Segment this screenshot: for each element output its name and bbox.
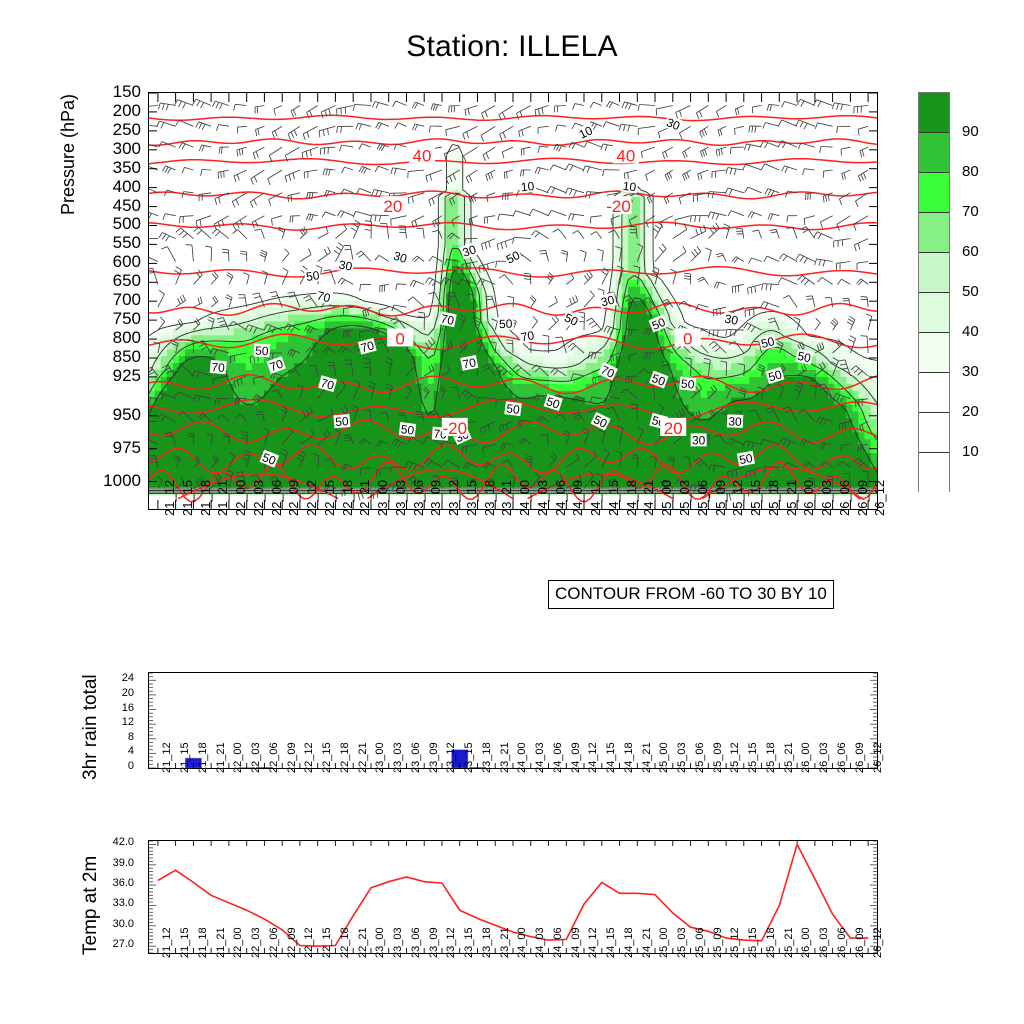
x-tick-25_21: 25_21 bbox=[783, 927, 795, 958]
x-tick-22_18: 22_18 bbox=[339, 927, 351, 958]
x-tick-23_12: 23_12 bbox=[445, 742, 457, 773]
pressure-tick-975: 975 bbox=[95, 439, 141, 456]
x-tick-25_12: 25_12 bbox=[729, 927, 741, 958]
x-tick-26_09: 26_09 bbox=[855, 480, 870, 516]
x-tick-24_18: 24_18 bbox=[623, 927, 635, 958]
x-tick-26_06: 26_06 bbox=[836, 927, 848, 958]
x-tick-26_12: 26_12 bbox=[872, 480, 887, 516]
x-tick-24_15: 24_15 bbox=[605, 742, 617, 773]
x-tick-23_03: 23_03 bbox=[392, 742, 404, 773]
x-tick-26_03: 26_03 bbox=[819, 480, 834, 516]
colorbar-cell-7 bbox=[919, 373, 949, 413]
colorbar-label-20: 20 bbox=[962, 403, 979, 420]
x-tick-24_03: 24_03 bbox=[534, 742, 546, 773]
rain-tick-4: 4 bbox=[108, 746, 134, 757]
pressure-tick-750: 750 bbox=[95, 310, 141, 327]
x-tick-22_09: 22_09 bbox=[286, 927, 298, 958]
x-tick-25_12: 25_12 bbox=[729, 742, 741, 773]
x-tick-21_12: 21_12 bbox=[161, 927, 173, 958]
colorbar-label-70: 70 bbox=[962, 203, 979, 220]
x-tick-25_09: 25_09 bbox=[713, 480, 728, 516]
x-tick-21_21: 21_21 bbox=[215, 742, 227, 773]
colorbar-cell-8 bbox=[919, 413, 949, 453]
x-tick-23_06: 23_06 bbox=[410, 927, 422, 958]
x-tick-21_18: 21_18 bbox=[198, 480, 213, 516]
x-tick-25_09: 25_09 bbox=[712, 742, 724, 773]
x-tick-25_03: 25_03 bbox=[677, 480, 692, 516]
rain-tick-12: 12 bbox=[108, 717, 134, 728]
colorbar-cell-2 bbox=[919, 173, 949, 213]
x-tick-22_21: 22_21 bbox=[357, 742, 369, 773]
x-tick-26_09: 26_09 bbox=[854, 927, 866, 958]
x-tick-21_15: 21_15 bbox=[179, 742, 191, 773]
x-tick-23_21: 23_21 bbox=[499, 742, 511, 773]
x-tick-24_09: 24_09 bbox=[570, 480, 585, 516]
x-tick-24_00: 24_00 bbox=[517, 480, 532, 516]
x-tick-21_21: 21_21 bbox=[215, 927, 227, 958]
x-tick-22_00: 22_00 bbox=[232, 742, 244, 773]
x-tick-23_06: 23_06 bbox=[410, 742, 422, 773]
x-tick-25_12: 25_12 bbox=[730, 480, 745, 516]
x-tick-25_15: 25_15 bbox=[747, 742, 759, 773]
x-tick-22_03: 22_03 bbox=[251, 480, 266, 516]
x-tick-22_03: 22_03 bbox=[250, 742, 262, 773]
colorbar bbox=[918, 92, 950, 492]
x-tick-24_21: 24_21 bbox=[641, 927, 653, 958]
x-tick-25_09: 25_09 bbox=[712, 927, 724, 958]
x-tick-23_12: 23_12 bbox=[446, 480, 461, 516]
x-tick-23_09: 23_09 bbox=[428, 480, 443, 516]
x-tick-21_12: 21_12 bbox=[162, 480, 177, 516]
x-tick-24_03: 24_03 bbox=[534, 927, 546, 958]
x-tick-24_15: 24_15 bbox=[605, 927, 617, 958]
x-tick-22_09: 22_09 bbox=[286, 742, 298, 773]
x-tick-22_18: 22_18 bbox=[339, 742, 351, 773]
x-tick-24_03: 24_03 bbox=[535, 480, 550, 516]
x-tick-21_21: 21_21 bbox=[215, 480, 230, 516]
pressure-tick-950: 950 bbox=[95, 406, 141, 423]
pressure-tick-1000: 1000 bbox=[95, 472, 141, 489]
x-tick-26_09: 26_09 bbox=[854, 742, 866, 773]
x-tick-23_15: 23_15 bbox=[463, 927, 475, 958]
pressure-tick-600: 600 bbox=[95, 253, 141, 270]
rain-tick-8: 8 bbox=[108, 732, 134, 743]
temp-tick-36.0: 36.0 bbox=[100, 878, 134, 889]
colorbar-label-50: 50 bbox=[962, 283, 979, 300]
pressure-tick-700: 700 bbox=[95, 291, 141, 308]
x-tick-25_00: 25_00 bbox=[658, 927, 670, 958]
pressure-tick-800: 800 bbox=[95, 329, 141, 346]
x-tick-22_00: 22_00 bbox=[233, 480, 248, 516]
x-tick-22_12: 22_12 bbox=[303, 927, 315, 958]
x-tick-25_00: 25_00 bbox=[659, 480, 674, 516]
x-tick-26_12: 26_12 bbox=[872, 927, 884, 958]
x-tick-25_18: 25_18 bbox=[765, 742, 777, 773]
contour-caption: CONTOUR FROM -60 TO 30 BY 10 bbox=[548, 580, 834, 609]
x-tick-24_12: 24_12 bbox=[588, 480, 603, 516]
x-tick-23_00: 23_00 bbox=[374, 927, 386, 958]
x-tick-23_18: 23_18 bbox=[481, 927, 493, 958]
x-tick-22_15: 22_15 bbox=[321, 927, 333, 958]
pressure-tick-500: 500 bbox=[95, 215, 141, 232]
x-tick-25_21: 25_21 bbox=[784, 480, 799, 516]
x-tick-25_15: 25_15 bbox=[747, 927, 759, 958]
x-tick-25_06: 25_06 bbox=[694, 742, 706, 773]
x-tick-22_06: 22_06 bbox=[269, 480, 284, 516]
temp-tick-33.0: 33.0 bbox=[100, 898, 134, 909]
x-tick-25_06: 25_06 bbox=[694, 927, 706, 958]
rain-tick-16: 16 bbox=[108, 703, 134, 714]
x-tick-23_09: 23_09 bbox=[428, 742, 440, 773]
x-tick-22_12: 22_12 bbox=[304, 480, 319, 516]
x-tick-21_12: 21_12 bbox=[161, 742, 173, 773]
x-tick-21_15: 21_15 bbox=[180, 480, 195, 516]
x-tick-21_15: 21_15 bbox=[179, 927, 191, 958]
x-tick-22_06: 22_06 bbox=[268, 927, 280, 958]
x-tick-23_00: 23_00 bbox=[375, 480, 390, 516]
temp-tick-27.0: 27.0 bbox=[100, 939, 134, 950]
x-tick-25_06: 25_06 bbox=[695, 480, 710, 516]
colorbar-label-40: 40 bbox=[962, 323, 979, 340]
colorbar-cell-5 bbox=[919, 293, 949, 333]
x-tick-25_03: 25_03 bbox=[676, 927, 688, 958]
pressure-tick-925: 925 bbox=[95, 367, 141, 384]
x-tick-24_21: 24_21 bbox=[641, 742, 653, 773]
x-tick-24_06: 24_06 bbox=[553, 480, 568, 516]
pressure-tick-550: 550 bbox=[95, 234, 141, 251]
x-tick-26_12: 26_12 bbox=[872, 742, 884, 773]
x-tick-24_00: 24_00 bbox=[516, 742, 528, 773]
x-tick-23_21: 23_21 bbox=[499, 927, 511, 958]
temp-tick-39.0: 39.0 bbox=[100, 858, 134, 869]
x-tick-25_18: 25_18 bbox=[766, 480, 781, 516]
colorbar-label-30: 30 bbox=[962, 363, 979, 380]
colorbar-cell-6 bbox=[919, 333, 949, 373]
rain-tick-24: 24 bbox=[108, 673, 134, 684]
x-tick-21_18: 21_18 bbox=[197, 927, 209, 958]
x-tick-23_06: 23_06 bbox=[411, 480, 426, 516]
x-tick-26_06: 26_06 bbox=[836, 742, 848, 773]
x-tick-23_00: 23_00 bbox=[374, 742, 386, 773]
main-y-axis-title: Pressure (hPa) bbox=[58, 94, 79, 215]
x-tick-24_21: 24_21 bbox=[641, 480, 656, 516]
colorbar-cell-0 bbox=[919, 93, 949, 133]
colorbar-label-80: 80 bbox=[962, 163, 979, 180]
temp-tick-42.0: 42.0 bbox=[100, 837, 134, 848]
x-tick-24_09: 24_09 bbox=[570, 927, 582, 958]
x-tick-22_21: 22_21 bbox=[357, 480, 372, 516]
x-tick-26_00: 26_00 bbox=[801, 480, 816, 516]
x-tick-25_18: 25_18 bbox=[765, 927, 777, 958]
x-tick-26_06: 26_06 bbox=[837, 480, 852, 516]
x-tick-22_15: 22_15 bbox=[322, 480, 337, 516]
pressure-tick-200: 200 bbox=[95, 102, 141, 119]
x-tick-23_21: 23_21 bbox=[499, 480, 514, 516]
x-tick-25_03: 25_03 bbox=[676, 742, 688, 773]
x-tick-25_00: 25_00 bbox=[658, 742, 670, 773]
x-tick-22_06: 22_06 bbox=[268, 742, 280, 773]
x-tick-23_15: 23_15 bbox=[463, 742, 475, 773]
temperature-trace bbox=[158, 844, 868, 946]
x-tick-24_06: 24_06 bbox=[552, 742, 564, 773]
colorbar-cell-9 bbox=[919, 453, 949, 493]
x-tick-23_15: 23_15 bbox=[464, 480, 479, 516]
pressure-tick-450: 450 bbox=[95, 197, 141, 214]
colorbar-label-60: 60 bbox=[962, 243, 979, 260]
colorbar-cell-3 bbox=[919, 213, 949, 253]
temp-y-axis-title: Temp at 2m bbox=[80, 856, 102, 955]
x-tick-22_15: 22_15 bbox=[321, 742, 333, 773]
x-tick-23_03: 23_03 bbox=[392, 927, 404, 958]
x-tick-26_03: 26_03 bbox=[818, 927, 830, 958]
x-tick-23_03: 23_03 bbox=[393, 480, 408, 516]
rain-y-axis-title: 3hr rain total bbox=[80, 674, 102, 780]
x-tick-24_15: 24_15 bbox=[606, 480, 621, 516]
cross-section-plot: 1030101030503050305050305030507070707070… bbox=[149, 93, 877, 509]
rain-tick-20: 20 bbox=[108, 688, 134, 699]
x-tick-24_18: 24_18 bbox=[624, 480, 639, 516]
temp-tick-30.0: 30.0 bbox=[100, 919, 134, 930]
colorbar-label-90: 90 bbox=[962, 123, 979, 140]
x-tick-23_18: 23_18 bbox=[482, 480, 497, 516]
page-title: Station: ILLELA bbox=[0, 30, 1024, 64]
pressure-tick-250: 250 bbox=[95, 121, 141, 138]
x-tick-22_09: 22_09 bbox=[286, 480, 301, 516]
pressure-tick-350: 350 bbox=[95, 159, 141, 176]
x-tick-24_06: 24_06 bbox=[552, 927, 564, 958]
x-tick-25_21: 25_21 bbox=[783, 742, 795, 773]
x-tick-23_18: 23_18 bbox=[481, 742, 493, 773]
x-tick-24_12: 24_12 bbox=[587, 927, 599, 958]
pressure-tick-150: 150 bbox=[95, 83, 141, 100]
x-tick-23_12: 23_12 bbox=[445, 927, 457, 958]
x-tick-24_00: 24_00 bbox=[516, 927, 528, 958]
x-tick-22_00: 22_00 bbox=[232, 927, 244, 958]
x-tick-26_00: 26_00 bbox=[800, 927, 812, 958]
pressure-tick-300: 300 bbox=[95, 140, 141, 157]
colorbar-cell-1 bbox=[919, 133, 949, 173]
x-tick-25_15: 25_15 bbox=[748, 480, 763, 516]
x-tick-26_00: 26_00 bbox=[800, 742, 812, 773]
pressure-tick-400: 400 bbox=[95, 178, 141, 195]
x-tick-26_03: 26_03 bbox=[818, 742, 830, 773]
x-tick-21_18: 21_18 bbox=[197, 742, 209, 773]
colorbar-cell-4 bbox=[919, 253, 949, 293]
x-tick-24_09: 24_09 bbox=[570, 742, 582, 773]
x-tick-22_18: 22_18 bbox=[340, 480, 355, 516]
x-tick-23_09: 23_09 bbox=[428, 927, 440, 958]
x-tick-22_03: 22_03 bbox=[250, 927, 262, 958]
colorbar-label-10: 10 bbox=[962, 443, 979, 460]
pressure-tick-650: 650 bbox=[95, 272, 141, 289]
x-tick-22_21: 22_21 bbox=[357, 927, 369, 958]
x-tick-22_12: 22_12 bbox=[303, 742, 315, 773]
time-height-cross-section-panel: 1030101030503050305050305030507070707070… bbox=[148, 92, 878, 510]
x-tick-24_12: 24_12 bbox=[587, 742, 599, 773]
pressure-tick-850: 850 bbox=[95, 348, 141, 365]
rain-tick-0: 0 bbox=[108, 761, 134, 772]
x-tick-24_18: 24_18 bbox=[623, 742, 635, 773]
